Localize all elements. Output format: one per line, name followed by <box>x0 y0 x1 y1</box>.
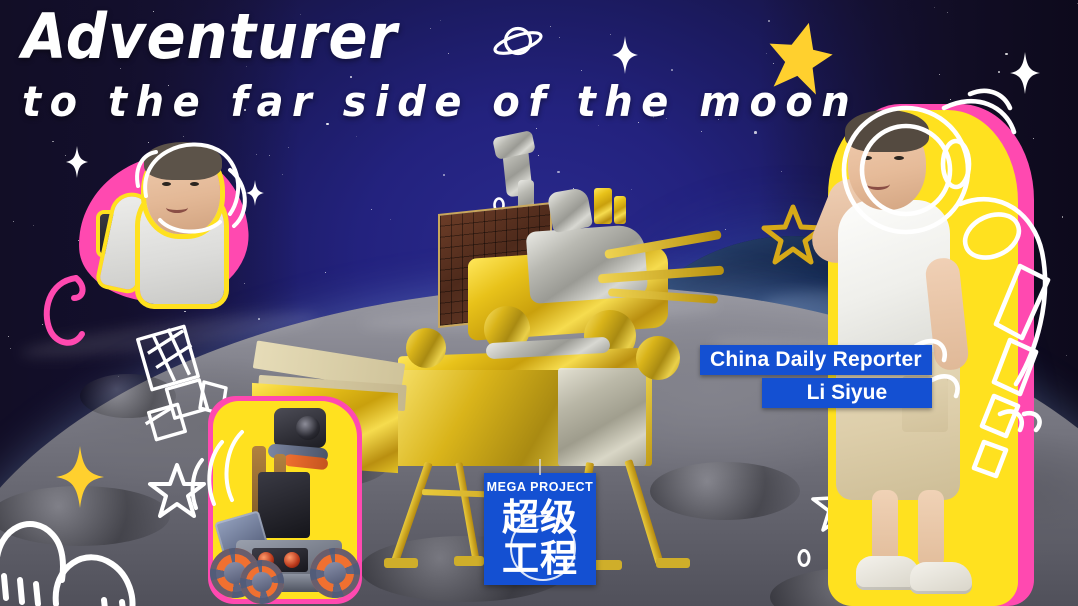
star-dot <box>781 171 782 172</box>
star-dot <box>184 311 186 313</box>
star-dot <box>10 348 11 349</box>
star-dot <box>934 7 935 8</box>
star-dot <box>701 131 702 132</box>
star-dot <box>939 74 940 75</box>
star-dot <box>725 229 726 230</box>
logo-chinese-bottom: 工程 <box>484 538 596 579</box>
title-line-1: Adventurer <box>22 6 841 68</box>
logo-chinese-text: 超级 工程 <box>484 497 596 579</box>
star-dot <box>269 155 270 156</box>
reporter-name: Li Siyue <box>762 378 932 408</box>
motion-lines-icon <box>182 426 258 522</box>
lunar-rover-robot <box>218 404 354 600</box>
pink-squiggle-icon <box>34 272 94 364</box>
star-dot <box>536 128 537 129</box>
lower-third-name-plate: China Daily Reporter Li Siyue <box>700 345 932 408</box>
logo-chinese-top: 超级 <box>484 497 596 538</box>
motion-lines-icon <box>108 130 256 266</box>
ring-doodle-icon <box>796 548 812 568</box>
lunar-lander <box>368 140 708 520</box>
star-dot <box>1005 53 1008 56</box>
four-point-sparkle-icon <box>66 146 88 178</box>
mega-project-logo: MEGA PROJECT 超级 工程 <box>484 473 596 585</box>
star-dot <box>8 336 9 337</box>
star-dot <box>325 272 326 273</box>
star-dot <box>947 12 948 13</box>
logo-hanging-string <box>539 459 541 475</box>
star-dot <box>244 283 245 284</box>
star-dot <box>282 174 283 175</box>
filled-star-icon <box>56 446 104 508</box>
logo-english-text: MEGA PROJECT <box>484 480 596 494</box>
star-dot <box>13 221 14 222</box>
title-line-2: to the far side of the moon <box>22 80 858 124</box>
star-dot <box>356 136 357 137</box>
title-block: Adventurer to the far side of the moon <box>22 6 902 124</box>
reporter-role: China Daily Reporter <box>700 345 932 375</box>
star-dot <box>33 225 34 226</box>
star-dot <box>998 71 1000 73</box>
star-dot <box>256 154 257 155</box>
title-card-canvas: Adventurer to the far side of the moon <box>0 0 1078 606</box>
star-dot <box>754 131 757 134</box>
star-dot <box>52 141 54 143</box>
rocket-outline-icon <box>820 84 1078 514</box>
star-dot <box>288 147 289 148</box>
